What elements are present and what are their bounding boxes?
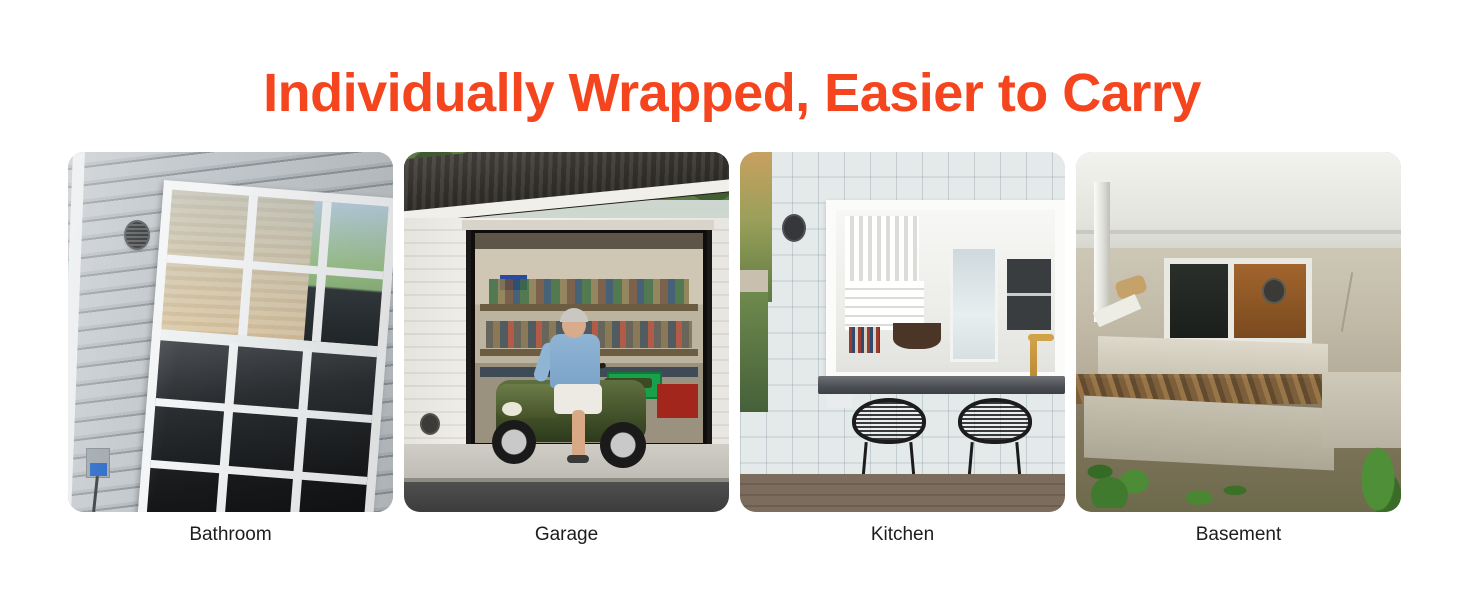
- photo-garage[interactable]: [404, 152, 729, 512]
- atv-wheel: [600, 422, 646, 468]
- bar-stool: [852, 398, 926, 444]
- driveway-asphalt: [404, 482, 729, 512]
- window-glass: [1170, 264, 1228, 338]
- card-caption-bathroom: Bathroom: [68, 521, 393, 549]
- shelf-clutter-upper: [489, 279, 690, 304]
- shelf-board-upper: [480, 304, 699, 311]
- red-tool-cart: [657, 384, 698, 418]
- counter-corbel: [826, 394, 852, 408]
- cookbooks: [849, 327, 880, 353]
- atv-headlight: [502, 402, 522, 416]
- stair-railing: [845, 216, 919, 284]
- card-caption-garage: Garage: [404, 521, 729, 549]
- downspout-cap: [1090, 170, 1114, 182]
- glass-door: [950, 246, 998, 363]
- rider-torso: [550, 334, 600, 388]
- garage-door-header: [462, 220, 714, 230]
- green-weeds: [1172, 464, 1262, 512]
- photo-lighting-overlay: [68, 152, 393, 512]
- round-vent-icon: [1264, 280, 1284, 302]
- photo-kitchen[interactable]: [740, 152, 1065, 512]
- card-caption-kitchen: Kitchen: [740, 521, 1065, 549]
- background-shrub: [740, 292, 768, 412]
- image-card-basement[interactable]: Basement: [1076, 152, 1401, 552]
- wall-vent-icon: [784, 216, 804, 240]
- page-title: Individually Wrapped, Easier to Carry: [0, 62, 1464, 124]
- siding-seam: [1076, 230, 1401, 234]
- image-card-kitchen[interactable]: Kitchen: [740, 152, 1065, 552]
- photo-basement[interactable]: [1076, 152, 1401, 512]
- image-card-garage[interactable]: Garage: [404, 152, 729, 552]
- photo-bathroom[interactable]: [68, 152, 393, 512]
- card-caption-basement: Basement: [1076, 521, 1401, 549]
- image-card-row: Bathroom: [68, 152, 1392, 552]
- deck-flooring: [740, 474, 1065, 512]
- promo-banner: Individually Wrapped, Easier to Carry: [0, 0, 1464, 600]
- wall-vent-icon: [422, 415, 438, 433]
- kitchen-interior: [836, 210, 1055, 372]
- green-weeds: [1352, 430, 1401, 512]
- rider-sandal: [567, 455, 589, 463]
- atv-wheel: [492, 420, 536, 464]
- basement-window: [1164, 258, 1312, 344]
- wall-oven: [1007, 259, 1051, 330]
- image-card-bathroom[interactable]: Bathroom: [68, 152, 393, 552]
- downspout-pipe: [1094, 174, 1110, 322]
- serving-bowl: [893, 323, 941, 349]
- painted-siding: [1076, 152, 1401, 250]
- green-weeds: [1086, 442, 1164, 508]
- bar-stool: [958, 398, 1032, 444]
- stone-counter-ledge: [818, 376, 1065, 394]
